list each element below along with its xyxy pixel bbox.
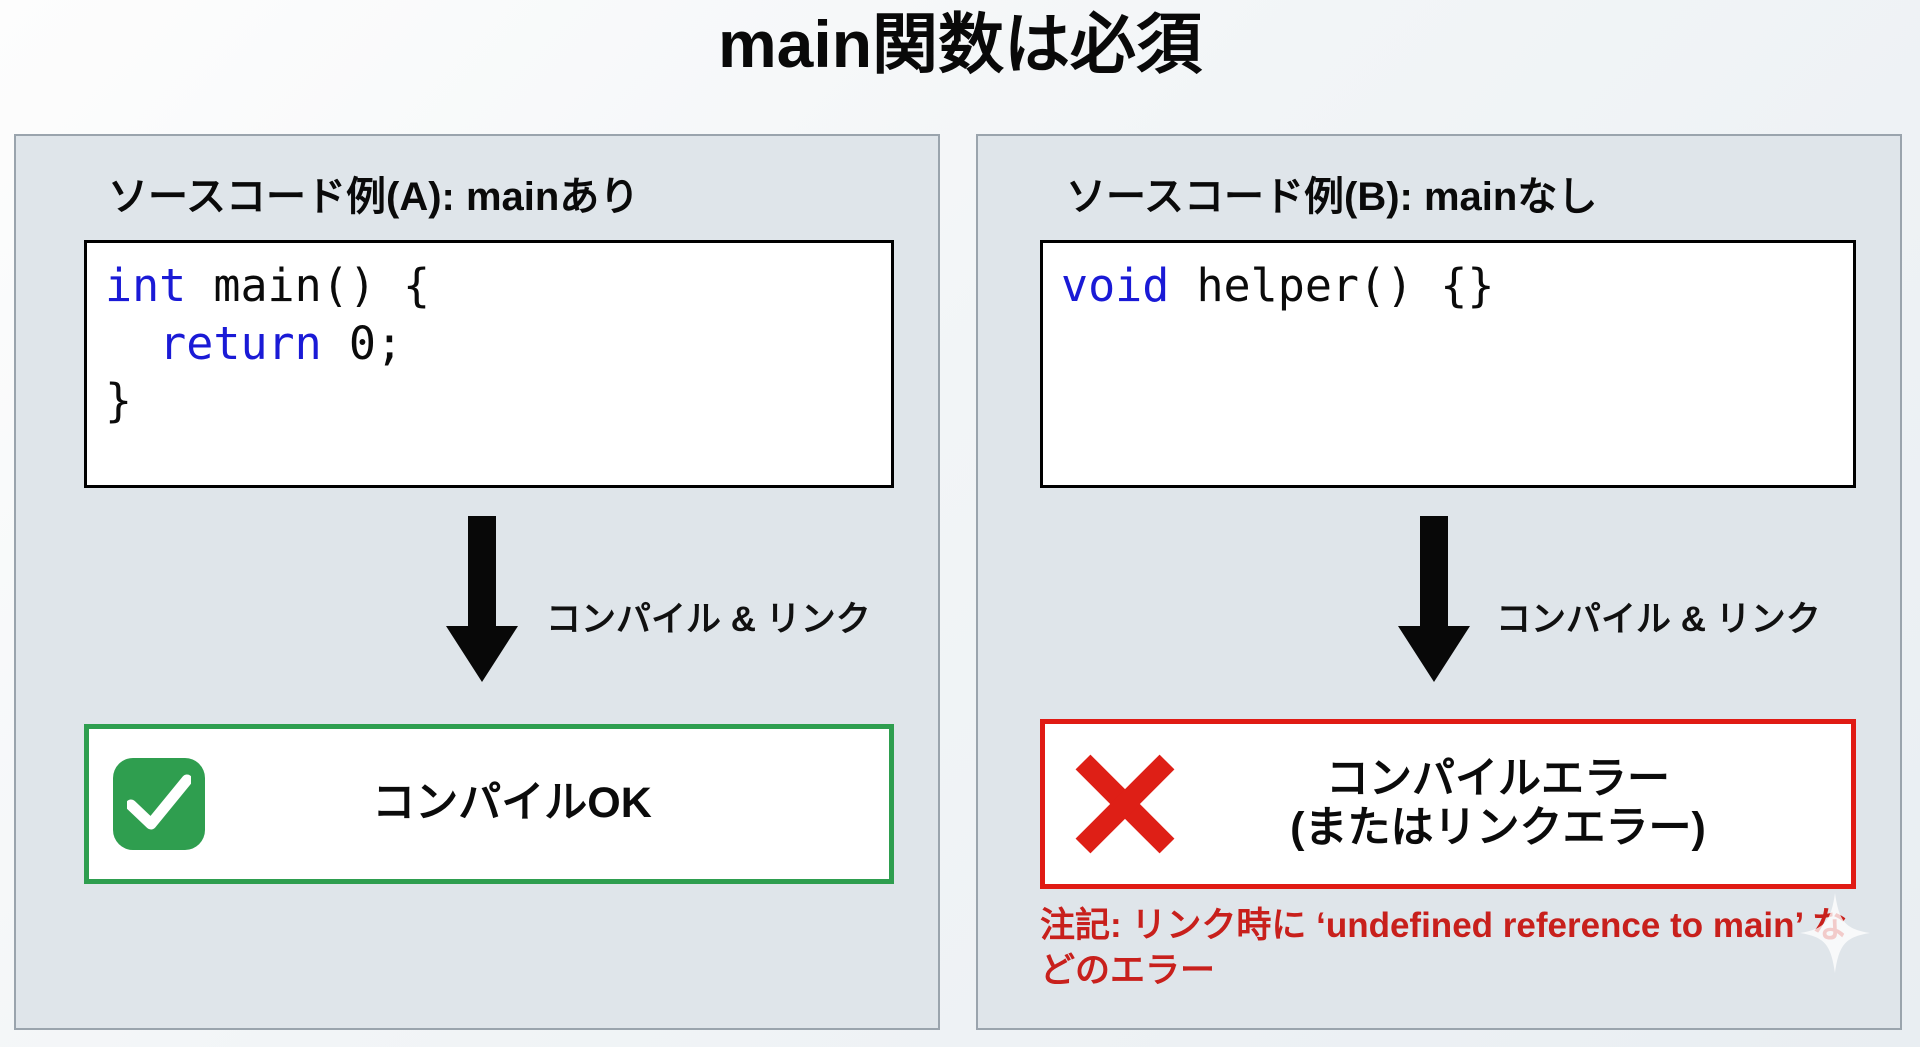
code-text-a-line2: 0; <box>322 317 403 370</box>
code-text-b-line1: helper() {} <box>1169 259 1494 312</box>
arrow-group-b: コンパイル & リンク <box>978 516 1900 716</box>
down-arrow-icon <box>446 516 518 687</box>
panel-a-header: ソースコード例(A): mainあり <box>108 164 639 222</box>
result-text-a: コンパイルOK <box>205 779 889 828</box>
code-keyword-int: int <box>105 259 186 312</box>
result-text-b-line2: (またはリンクエラー) <box>1185 804 1811 853</box>
result-box-compile-error: コンパイルエラー (またはリンクエラー) <box>1040 719 1856 889</box>
panel-source-example-b: ソースコード例(B): mainなし void helper() {} コンパイ… <box>976 134 1902 1030</box>
code-block-a: int main() { return 0; } <box>84 240 894 488</box>
code-block-b: void helper() {} <box>1040 240 1856 488</box>
sparkle-icon <box>1800 893 1870 973</box>
check-mark-icon <box>113 758 205 850</box>
code-keyword-void: void <box>1061 259 1169 312</box>
arrow-label-a: コンパイル & リンク <box>546 591 871 642</box>
code-text-a-line3: } <box>105 374 132 427</box>
result-box-compile-ok: コンパイルOK <box>84 724 894 884</box>
page-title: main関数は必須 <box>0 8 1920 81</box>
result-text-b: コンパイルエラー (またはリンクエラー) <box>1185 755 1851 854</box>
cross-mark-icon <box>1065 754 1185 854</box>
code-keyword-return: return <box>105 317 322 370</box>
code-text-a-line1: main() { <box>186 259 430 312</box>
panel-source-example-a: ソースコード例(A): mainあり int main() { return 0… <box>14 134 940 1030</box>
error-note-text: 注記: リンク時に ‘undefined reference to main’ … <box>1040 904 1870 994</box>
down-arrow-icon <box>1398 516 1470 687</box>
result-text-b-line1: コンパイルエラー <box>1185 755 1811 804</box>
panel-b-header: ソースコード例(B): mainなし <box>1066 164 1597 222</box>
arrow-label-b: コンパイル & リンク <box>1496 591 1821 642</box>
arrow-group-a: コンパイル & リンク <box>16 516 938 716</box>
